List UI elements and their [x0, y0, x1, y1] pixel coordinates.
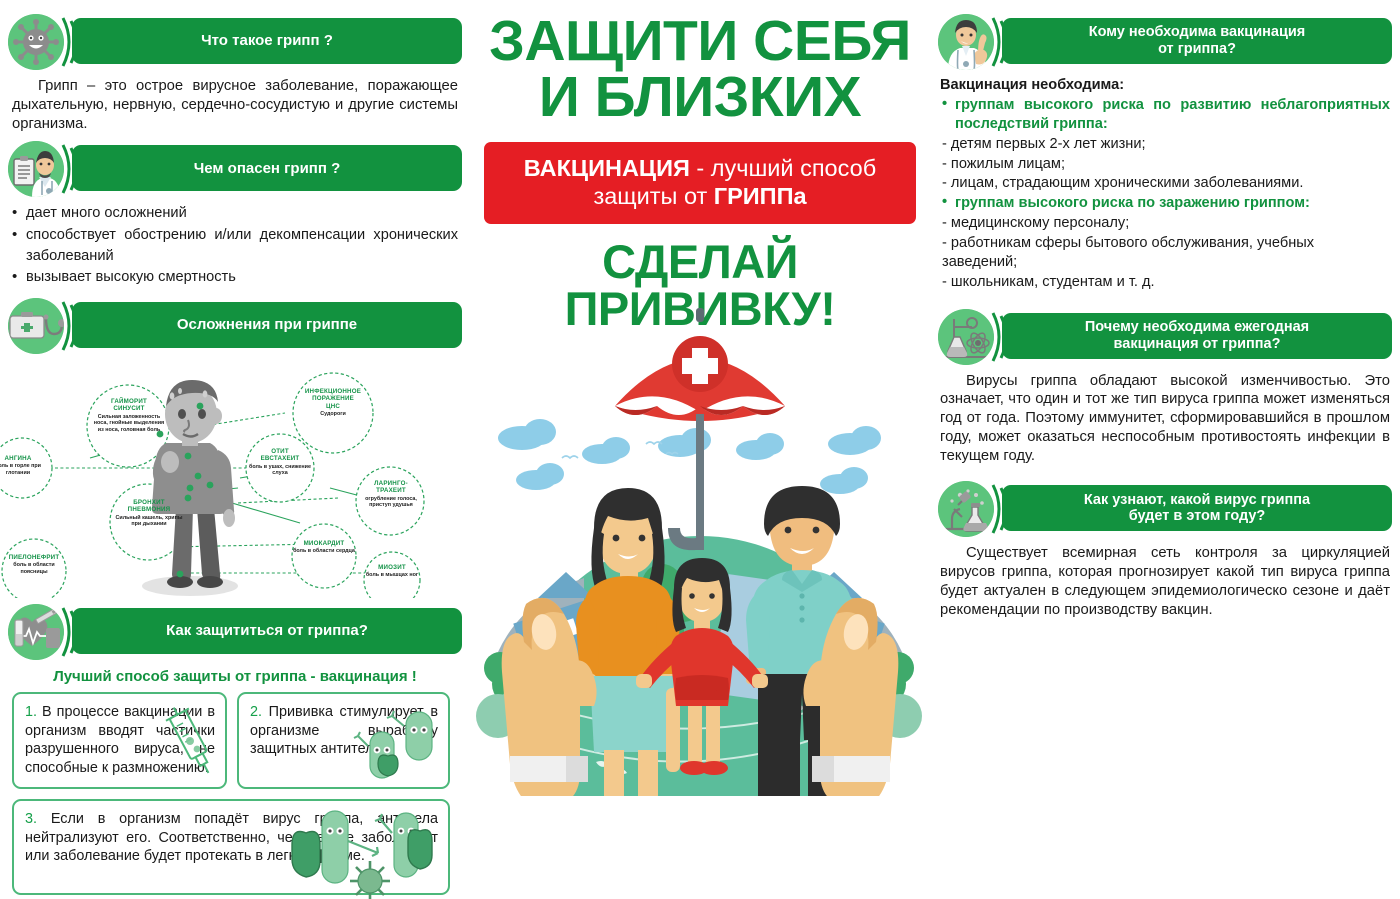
list-item: - пожилым лицам; — [940, 155, 1390, 175]
complication-desc: боль в области поясницы — [2, 562, 66, 575]
complication-desc: боль в горле при глотании — [0, 463, 46, 476]
list-item: способствует обострению и/или декомпенса… — [10, 225, 458, 267]
banner-plain-text: защиты от — [593, 183, 713, 209]
complication-desc: огрубление голоса, приступ удушья — [358, 496, 424, 509]
complication-label: БРОНХИТПНЕВМОНИЯ Сильный кашель, хрипы п… — [114, 499, 184, 528]
step-box-3: 3. Если в организм попадёт вирус гриппа,… — [12, 799, 450, 895]
step-number: 3. — [25, 811, 37, 827]
step-number: 1. — [25, 704, 37, 720]
list-lead: Вакцинация необходима: — [940, 76, 1390, 96]
title-line-1: ЗАЩИТИ СЕБЯ — [470, 14, 930, 70]
family-under-umbrella-illustration — [470, 296, 930, 796]
complication-desc: боль в мышцах ног — [364, 572, 420, 578]
step-text: В процессе вакцинации в организм вводят … — [25, 704, 215, 776]
vaccination-steps: 1. В процессе вакцинации в организм ввод… — [12, 692, 458, 789]
complication-label: МИОКАРДИТ боль в области сердца — [292, 540, 356, 555]
complication-desc: боль в области сердца — [292, 548, 356, 554]
lab-stand-atom-icon — [938, 309, 994, 365]
banner-bold-grippa: ГРИППа — [714, 183, 807, 209]
first-aid-kit-icon — [8, 298, 64, 354]
protect-subtitle: Лучший способ защиты от гриппа - вакцина… — [0, 668, 470, 685]
complication-label: АНГИНА боль в горле при глотании — [0, 455, 46, 476]
complication-label: МИОЗИТ боль в мышцах ног — [364, 564, 420, 579]
doctor-pointing-icon — [938, 14, 994, 70]
virus-icon — [8, 14, 64, 70]
section-header-what-is-flu: Что такое грипп ? — [0, 14, 470, 70]
step-number: 2. — [250, 704, 262, 720]
complications-diagram: ГАЙМОРИТСИНУСИТ Сильная заложенность нос… — [0, 358, 470, 598]
why-dangerous-list: дает много осложнений способствует обост… — [10, 203, 458, 288]
section-title: Кому необходима вакцинация от гриппа? — [1002, 18, 1392, 64]
list-item: - школьникам, студентам и т. д. — [940, 273, 1390, 293]
title-line-1: Кому необходима вакцинация — [1089, 24, 1306, 41]
section-header-how-known: Как узнают, какой вирус гриппа будет в э… — [930, 481, 1400, 537]
section-title: Осложнения при гриппе — [72, 302, 462, 348]
flu-vaccination-poster: Что такое грипп ? Грипп – это острое вир… — [0, 0, 1400, 807]
section-title: Чем опасен грипп ? — [72, 145, 462, 191]
step-box-1: 1. В процессе вакцинации в организм ввод… — [12, 692, 227, 789]
doctor-clipboard-icon — [8, 141, 64, 197]
complication-label: ИНФЕКЦИОННОЕПОРАЖЕНИЕЦНС Судороги — [295, 388, 371, 417]
title-line-2: И БЛИЗКИХ — [470, 70, 930, 126]
what-is-flu-paragraph: Грипп – это острое вирусное заболевание,… — [12, 77, 458, 133]
risk-group-1: группам высокого риска по развитию небла… — [940, 96, 1390, 135]
vaccination-banner: ВАКЦИНАЦИЯ - лучший способ защиты от ГРИ… — [484, 142, 916, 224]
banner-mid-text: - лучший способ — [690, 155, 876, 181]
list-item: - медицинскому персоналу; — [940, 214, 1390, 234]
step-box-2: 2. Прививка стимулирует в организме выра… — [237, 692, 450, 789]
left-column: Что такое грипп ? Грипп – это острое вир… — [0, 0, 470, 807]
section-title: Как защититься от гриппа? — [72, 608, 462, 654]
step-text: Прививка стимулирует в организме выработ… — [250, 704, 438, 757]
title-line-1: Почему необходима ежегодная — [1085, 319, 1309, 336]
title-line-2: от гриппа? — [1089, 41, 1306, 58]
complication-label: ЛАРИНГО-ТРАХЕИТ огрубление голоса, прист… — [358, 480, 424, 509]
who-needs-list: Вакцинация необходима: группам высокого … — [940, 76, 1390, 293]
microscope-flask-icon — [938, 481, 994, 537]
complication-desc: Судороги — [295, 411, 371, 417]
section-header-complications: Осложнения при гриппе — [0, 298, 470, 354]
complication-label: ПИЕЛОНЕФРИТ боль в области поясницы — [2, 554, 66, 575]
title-line-2: будет в этом году? — [1084, 508, 1310, 525]
complication-desc: боль в ушах, снижение слуха — [248, 464, 312, 477]
list-item: дает много осложнений — [10, 203, 458, 224]
step-text: Если в организм попадёт вирус гриппа, ан… — [25, 811, 438, 864]
right-column: Кому необходима вакцинация от гриппа? Ва… — [930, 0, 1400, 807]
section-header-why-yearly: Почему необходима ежегодная вакцинация о… — [930, 309, 1400, 365]
how-known-paragraph: Существует всемирная сеть контроля за ци… — [940, 544, 1390, 619]
risk-group-2: группам высокого риска по заражению грип… — [940, 194, 1390, 214]
banner-bold-vaccination: ВАКЦИНАЦИЯ — [524, 155, 690, 181]
section-header-how-to-protect: Как защититься от гриппа? — [0, 604, 470, 660]
complication-label: ГАЙМОРИТСИНУСИТ Сильная заложенность нос… — [92, 398, 166, 433]
section-header-why-dangerous: Чем опасен грипп ? — [0, 141, 470, 197]
title-line-1: Как узнают, какой вирус гриппа — [1084, 492, 1310, 509]
list-item: - работникам сферы бытового обслуживания… — [940, 234, 1390, 273]
vaccine-heart-icon — [8, 604, 64, 660]
complication-desc: Сильная заложенность носа, гнойные выдел… — [92, 414, 166, 433]
section-header-who-needs: Кому необходима вакцинация от гриппа? — [930, 14, 1400, 70]
list-item: - детям первых 2-х лет жизни; — [940, 135, 1390, 155]
why-yearly-paragraph: Вирусы гриппа обладают высокой изменчиво… — [940, 372, 1390, 466]
center-column: ЗАЩИТИ СЕБЯ И БЛИЗКИХ ВАКЦИНАЦИЯ - лучши… — [470, 0, 930, 807]
page-title: ЗАЩИТИ СЕБЯ И БЛИЗКИХ — [470, 14, 930, 126]
section-title: Что такое грипп ? — [72, 18, 462, 64]
title-line-2: вакцинация от гриппа? — [1085, 336, 1309, 353]
section-title: Как узнают, какой вирус гриппа будет в э… — [1002, 485, 1392, 531]
complication-label: ОТИТЕВСТАХЕИТ боль в ушах, снижение слух… — [248, 448, 312, 477]
complication-desc: Сильный кашель, хрипы при дыхании — [114, 515, 184, 528]
section-title: Почему необходима ежегодная вакцинация о… — [1002, 313, 1392, 359]
list-item: вызывает высокую смертность — [10, 267, 458, 288]
list-item: - лицам, страдающим хроническими заболев… — [940, 174, 1390, 194]
